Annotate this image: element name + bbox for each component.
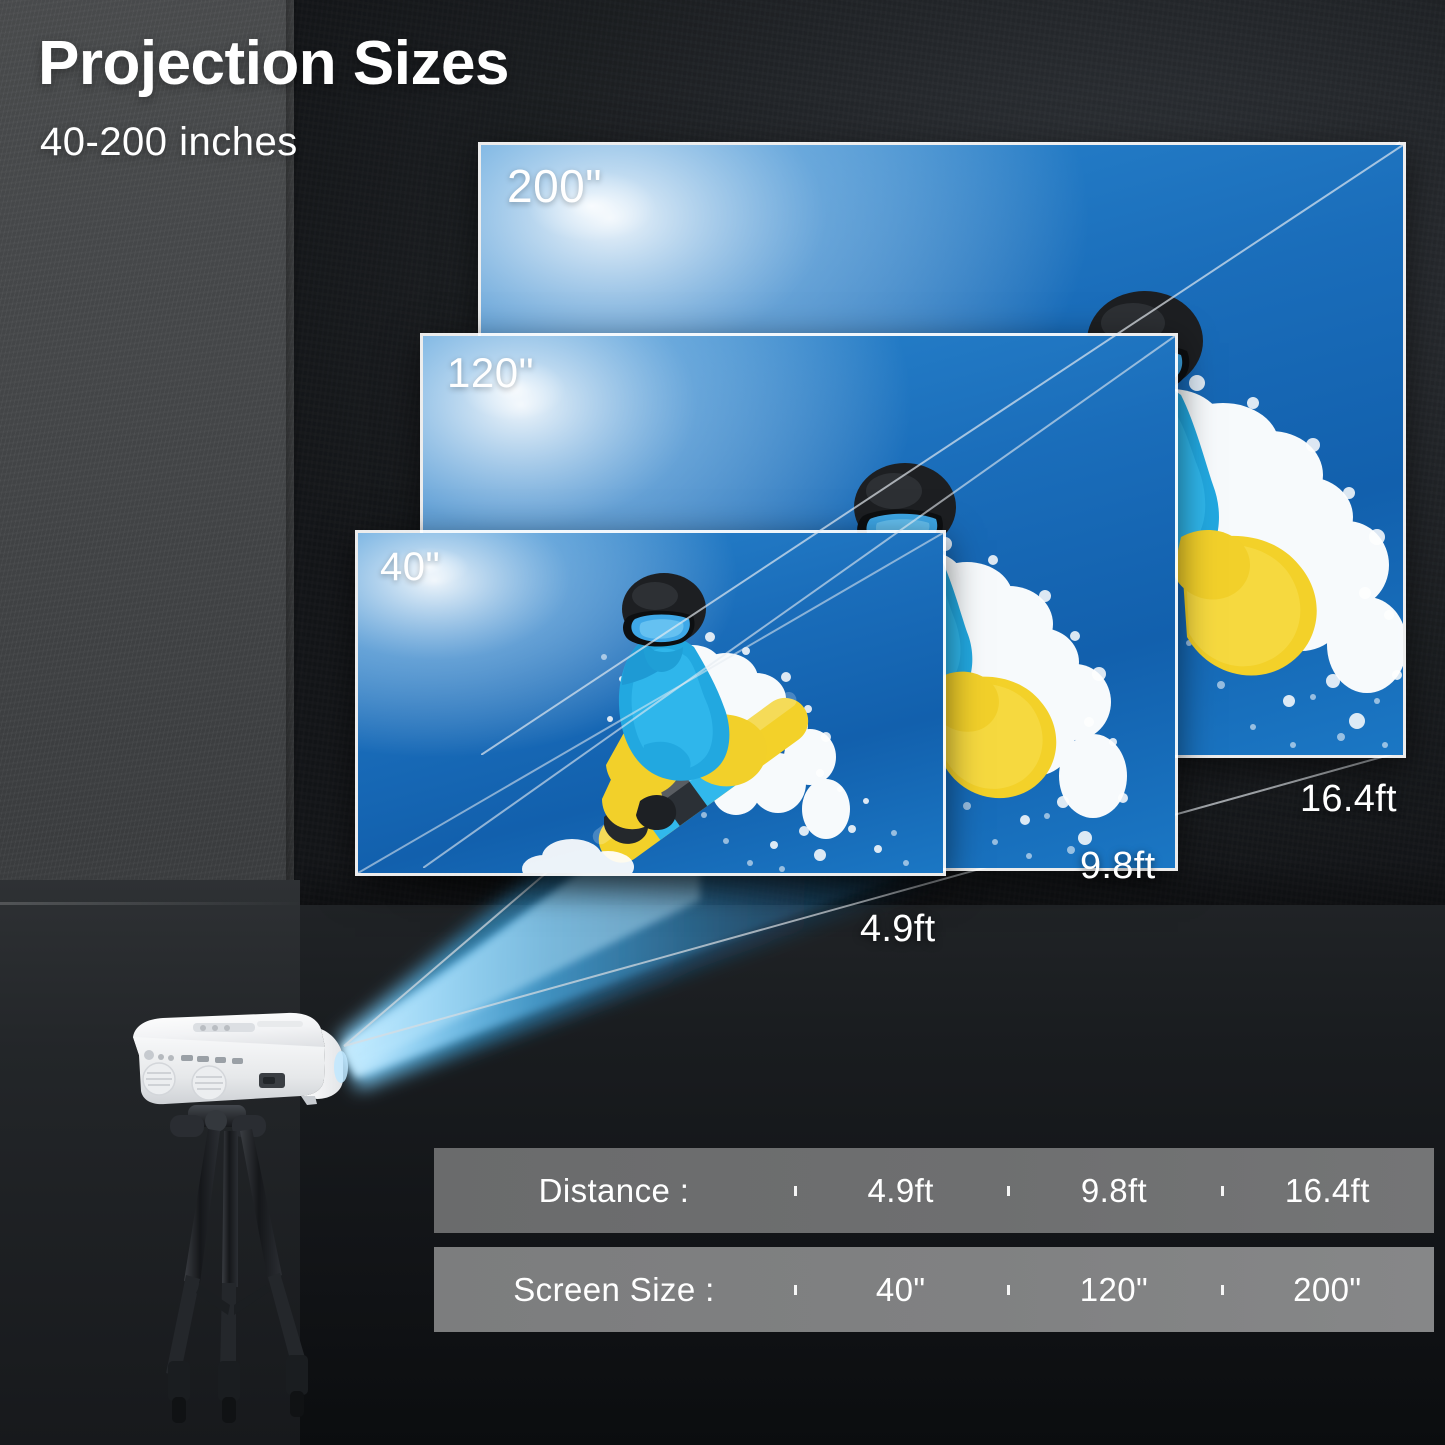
cell-distance-2: 9.8ft <box>1007 1172 1220 1210</box>
snowboarder-artwork-40 <box>358 533 943 873</box>
distance-callout-9-8ft: 9.8ft <box>1080 845 1155 888</box>
cell-distance-1: 4.9ft <box>794 1172 1007 1210</box>
projector-device[interactable] <box>105 1003 355 1118</box>
cell-screen-size-1: 40" <box>794 1271 1007 1309</box>
distance-callout-16-4ft: 16.4ft <box>1300 778 1397 821</box>
spec-table: Distance : 4.9ft 9.8ft 16.4ft Screen Siz… <box>434 1148 1434 1332</box>
cell-screen-size-2: 120" <box>1007 1271 1220 1309</box>
screen-120-label: 120" <box>447 349 534 397</box>
screen-200-label: 200" <box>507 159 602 213</box>
page-subtitle: 40-200 inches <box>40 120 298 165</box>
row-header-distance: Distance : <box>434 1172 794 1210</box>
row-header-screen-size: Screen Size : <box>434 1271 794 1309</box>
table-row-distance: Distance : 4.9ft 9.8ft 16.4ft <box>434 1148 1434 1233</box>
distance-callout-4-9ft: 4.9ft <box>860 908 935 951</box>
table-row-screen-size: Screen Size : 40" 120" 200" <box>434 1247 1434 1332</box>
screen-40[interactable]: 40" <box>355 530 946 876</box>
cell-distance-3: 16.4ft <box>1221 1172 1434 1210</box>
page-title: Projection Sizes <box>38 28 509 99</box>
infographic-canvas: 200" <box>0 0 1445 1445</box>
screen-40-label: 40" <box>380 545 440 590</box>
tripod-stand[interactable] <box>110 1105 350 1425</box>
cell-screen-size-3: 200" <box>1221 1271 1434 1309</box>
